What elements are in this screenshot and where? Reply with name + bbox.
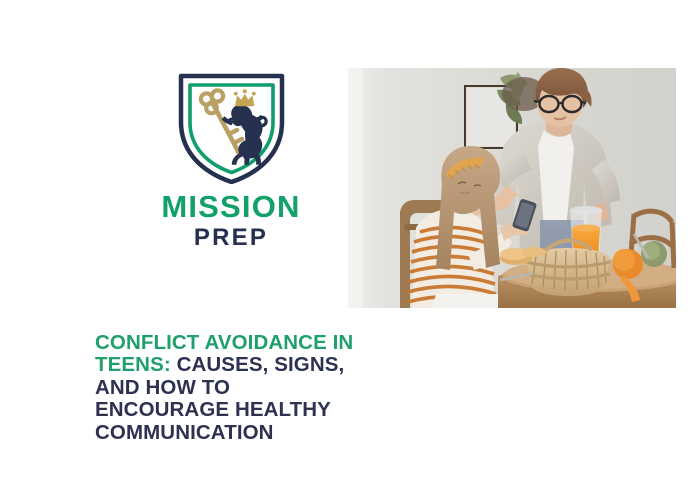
brand-wordmark: MISSION PREP bbox=[161, 191, 300, 250]
brand-logo: MISSION PREP bbox=[151, 68, 311, 250]
article-headline: Conflict Avoidance in Teens: Causes, Sig… bbox=[95, 332, 365, 445]
shield-crest-icon bbox=[175, 68, 288, 184]
document-canvas: MISSION PREP bbox=[0, 0, 700, 500]
wordmark-prep: PREP bbox=[161, 226, 300, 250]
wordmark-mission: MISSION bbox=[161, 191, 300, 222]
hero-image bbox=[348, 68, 676, 308]
